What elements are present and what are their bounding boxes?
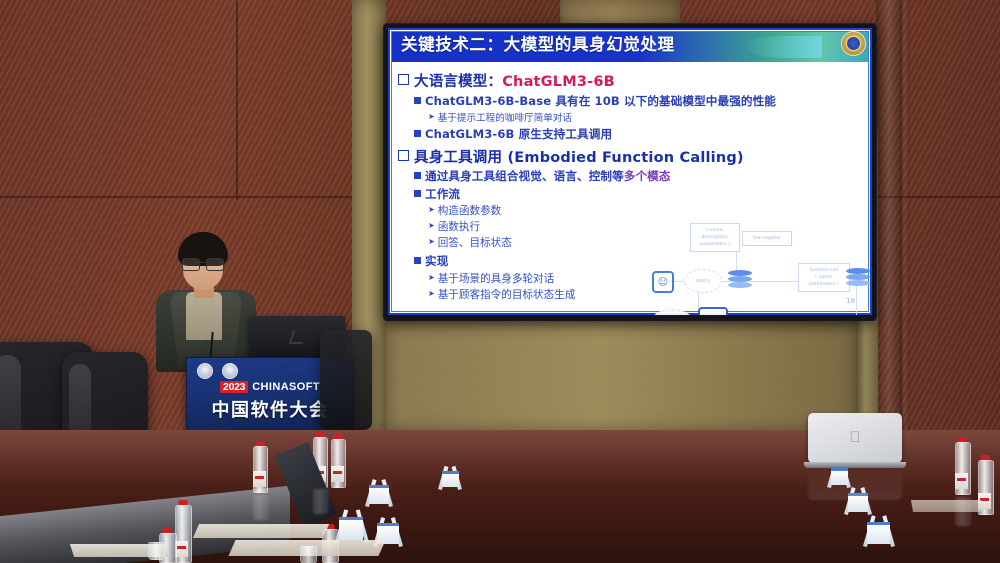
answer-cloud-icon: answer (652, 309, 692, 315)
paper-document[interactable] (193, 524, 329, 538)
conference-room-scene: 关键技术二：大模型的具身幻觉处理 大语言模型：ChatGLM3-6B ChatG… (0, 0, 1000, 563)
bullet-l3: ➤ 基于提示工程的咖啡厅简单对话 (428, 110, 864, 124)
bottle-label (331, 466, 344, 482)
bullet-highlight: 多个模态 (624, 169, 671, 183)
arrow-bullet-icon: ➤ (428, 273, 435, 282)
apple-logo-icon:  (848, 430, 862, 446)
function-calling-workflow-diagram: ( name,description,parameters ) tool reg… (646, 223, 872, 315)
bullet-square-filled-icon (414, 130, 421, 137)
bullet-text: 基于场景的具身多轮对话 (438, 271, 555, 286)
podium-badges (197, 363, 238, 379)
glasses-icon (181, 258, 225, 269)
bullet-text: 工作流 (425, 186, 460, 202)
name-card-holder[interactable] (364, 478, 394, 506)
bullet-square-filled-icon (414, 97, 421, 104)
bullet-square-filled-icon (414, 172, 421, 179)
bottle-reflection (313, 489, 326, 519)
wall-seam-vertical-1 (236, 0, 238, 200)
arrow-bullet-icon: ➤ (428, 205, 435, 214)
bullet-text: 实现 (425, 253, 448, 269)
arrow-bullet-icon: ➤ (428, 221, 435, 230)
bullet-square-filled-icon (414, 190, 421, 197)
bullet-text: 基于顾客指令的目标状态生成 (438, 287, 576, 302)
user-face-icon: ☺ (652, 271, 674, 293)
bullet-l2: 工作流 (414, 186, 864, 202)
seal-core (846, 36, 861, 51)
name-card-holder[interactable] (862, 514, 896, 546)
institution-seal-icon (841, 31, 866, 56)
water-bottle[interactable] (175, 500, 190, 563)
bullet-l2: ChatGLM3-6B 原生支持工具调用 (414, 126, 864, 142)
bullet-l3: ➤ 构造函数参数 (428, 203, 864, 218)
bullet-square-hollow-icon (398, 150, 409, 161)
database-cylinder-icon (728, 269, 752, 293)
robot-icon (698, 307, 728, 315)
presentation-screen: 关键技术二：大模型的具身幻觉处理 大语言模型：ChatGLM3-6B ChatG… (384, 24, 876, 320)
slide-content: 大语言模型：ChatGLM3-6B ChatGLM3-6B-Base 具有在 1… (398, 68, 864, 309)
speaker-shirt (186, 292, 222, 340)
workflow-box-schema: ( name,description,parameters ) (690, 223, 740, 252)
swoosh-decoration (744, 36, 822, 58)
bullet-l2: 通过具身工具组合视觉、语言、控制等多个模态 (414, 168, 864, 184)
laptop-reflection (808, 466, 902, 500)
slide: 关键技术二：大模型的具身幻觉处理 大语言模型：ChatGLM3-6B ChatG… (388, 28, 872, 315)
podium-english-name: CHINASOFT (252, 381, 320, 393)
speaker-presenter (150, 232, 262, 372)
wall-below-screen (386, 320, 856, 430)
podium-year: 2023 (220, 381, 248, 393)
drinking-glass[interactable] (148, 542, 165, 560)
bullet-text: 函数执行 (438, 219, 480, 234)
chair-center[interactable] (320, 330, 372, 430)
workflow-box-tool-register: tool register (742, 231, 792, 246)
bullet-l2: ChatGLM3-6B-Base 具有在 10B 以下的基础模型中最强的性能 (414, 93, 864, 109)
slide-title: 关键技术二：大模型的具身幻觉处理 (401, 31, 675, 55)
laptop-logo-icon (289, 330, 308, 344)
upper-wall-band (560, 0, 680, 26)
badge-logo-icon-1 (197, 363, 213, 379)
slide-page-number: 18 (846, 297, 855, 305)
water-bottle[interactable] (331, 434, 344, 488)
bullet-square-hollow-icon (398, 74, 409, 85)
bullet-l1: 具身工具调用 (Embodied Function Calling) (398, 146, 864, 167)
bullet-text: 具身工具调用 (Embodied Function Calling) (414, 146, 744, 167)
name-card-holder[interactable] (334, 508, 370, 542)
workflow-box-function-call: function call( name,parameters ) (798, 263, 850, 292)
bullet-text: ChatGLM3-6B-Base 具有在 10B 以下的基础模型中最强的性能 (425, 93, 776, 109)
paper-document[interactable] (911, 500, 983, 512)
arrow-bullet-icon: ➤ (428, 112, 435, 121)
drinking-glass[interactable] (300, 546, 317, 563)
bullet-l1: 大语言模型：ChatGLM3-6B (398, 70, 864, 91)
bottle-reflection (253, 495, 266, 525)
bottle-reflection (955, 497, 969, 531)
query-cloud-icon: query (684, 269, 722, 293)
bullet-text: 通过具身工具组合视觉、语言、控制等 (425, 169, 624, 183)
water-bottle[interactable] (955, 437, 969, 495)
water-bottle[interactable] (253, 441, 266, 493)
bullet-text: 回答、目标状态 (438, 235, 512, 250)
arrow-bullet-icon: ➤ (428, 289, 435, 298)
name-card-holder[interactable] (437, 465, 463, 489)
bullet-text: 大语言模型： (414, 74, 502, 90)
macbook-laptop[interactable]:  (808, 413, 902, 463)
bullet-text: 构造函数参数 (438, 203, 502, 218)
database-cylinder-icon-2 (846, 267, 870, 291)
bottle-label (253, 471, 266, 487)
bullet-text: 基于提示工程的咖啡厅简单对话 (438, 110, 572, 124)
bullet-highlight: ChatGLM3-6B (502, 74, 615, 90)
bullet-text: ChatGLM3-6B 原生支持工具调用 (425, 126, 612, 142)
badge-logo-icon-2 (222, 363, 238, 379)
arrow-bullet-icon: ➤ (428, 237, 435, 246)
bottle-label (955, 473, 968, 489)
bullet-square-filled-icon (414, 257, 421, 264)
